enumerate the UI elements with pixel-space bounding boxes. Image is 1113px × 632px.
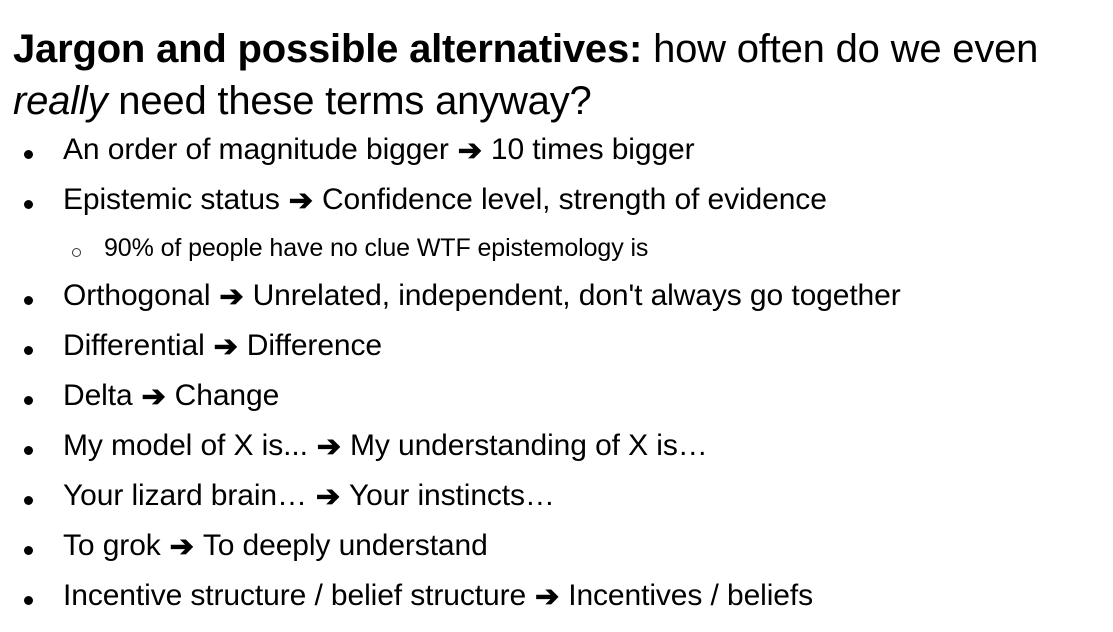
right-arrow-icon: ➔	[133, 380, 175, 414]
plain-alternative: Your instincts…	[349, 479, 555, 512]
bullet-item: Epistemic status ➔ Confidence level, str…	[0, 183, 1113, 233]
plain-alternative: My understanding of X is…	[350, 429, 708, 462]
jargon-term: Incentive structure / belief structure	[63, 579, 526, 612]
plain-alternative: Difference	[247, 329, 382, 362]
bullet-text: 90% of people have no clue WTF epistemol…	[104, 233, 648, 263]
slide-title-tail: need these terms anyway?	[107, 79, 591, 123]
plain-alternative: 10 times bigger	[491, 133, 695, 166]
bullet-item: Your lizard brain… ➔ Your instincts…	[0, 479, 1113, 529]
slide-title: Jargon and possible alternatives: how of…	[13, 23, 1103, 127]
right-arrow-icon: ➔	[205, 330, 247, 364]
slide: Jargon and possible alternatives: how of…	[0, 0, 1113, 632]
jargon-term: My model of X is...	[63, 429, 308, 462]
bullet-text: Your lizard brain… ➔ Your instincts…	[63, 479, 555, 513]
slide-title-bold: Jargon and possible alternatives:	[13, 27, 642, 71]
right-arrow-icon: ➔	[280, 184, 322, 218]
jargon-term: Your lizard brain…	[63, 479, 307, 512]
bullet-text: An order of magnitude bigger ➔ 10 times …	[63, 133, 695, 167]
plain-alternative: Change	[175, 379, 280, 412]
jargon-term: Delta	[63, 379, 133, 412]
bullet-item: Incentive structure / belief structure ➔…	[0, 579, 1113, 629]
sub-bullet-item: 90% of people have no clue WTF epistemol…	[0, 233, 1113, 279]
bullet-list: An order of magnitude bigger ➔ 10 times …	[0, 133, 1113, 629]
bullet-text: To grok ➔ To deeply understand	[63, 529, 488, 563]
bullet-text: Incentive structure / belief structure ➔…	[63, 579, 813, 613]
right-arrow-icon: ➔	[161, 530, 203, 564]
right-arrow-icon: ➔	[307, 480, 349, 514]
bullet-text: Epistemic status ➔ Confidence level, str…	[63, 183, 827, 217]
right-arrow-icon: ➔	[210, 280, 252, 314]
plain-alternative: Unrelated, independent, don't always go …	[253, 279, 901, 312]
plain-alternative: Incentives / beliefs	[568, 579, 813, 612]
bullet-text: Delta ➔ Change	[63, 379, 279, 413]
jargon-term: Orthogonal	[63, 279, 210, 312]
jargon-term: Epistemic status	[63, 183, 280, 216]
bullet-text: Differential ➔ Difference	[63, 329, 382, 363]
right-arrow-icon: ➔	[308, 430, 350, 464]
bullet-item: Delta ➔ Change	[0, 379, 1113, 429]
bullet-item: Differential ➔ Difference	[0, 329, 1113, 379]
plain-alternative: Confidence level, strength of evidence	[322, 183, 827, 216]
slide-title-italic: really	[13, 79, 107, 123]
right-arrow-icon: ➔	[449, 134, 491, 168]
slide-title-regular: how often do we even	[642, 27, 1049, 71]
bullet-text: My model of X is... ➔ My understanding o…	[63, 429, 708, 463]
jargon-term: To grok	[63, 529, 161, 562]
bullet-text: Orthogonal ➔ Unrelated, independent, don…	[63, 279, 901, 313]
bullet-item: Orthogonal ➔ Unrelated, independent, don…	[0, 279, 1113, 329]
bullet-item: My model of X is... ➔ My understanding o…	[0, 429, 1113, 479]
right-arrow-icon: ➔	[526, 580, 568, 614]
plain-alternative: To deeply understand	[203, 529, 488, 562]
jargon-term: Differential	[63, 329, 205, 362]
bullet-item: To grok ➔ To deeply understand	[0, 529, 1113, 579]
jargon-term: An order of magnitude bigger	[63, 133, 449, 166]
jargon-term: 90% of people have no clue WTF epistemol…	[104, 234, 648, 262]
bullet-item: An order of magnitude bigger ➔ 10 times …	[0, 133, 1113, 183]
